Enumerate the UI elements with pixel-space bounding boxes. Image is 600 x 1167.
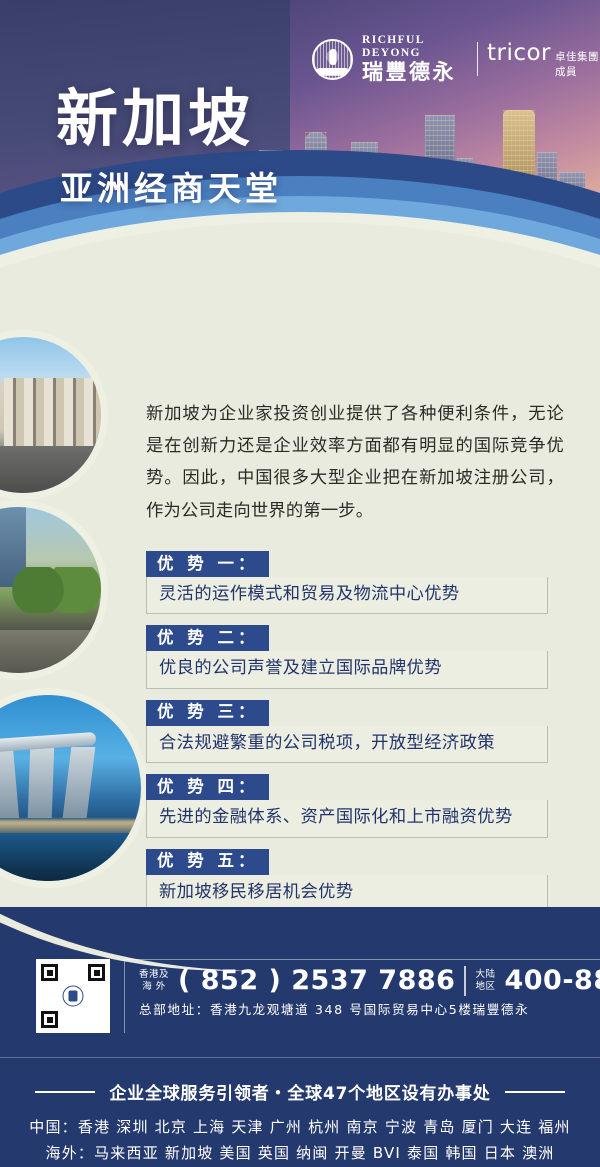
brand-chinese-name: 瑞豐德永: [362, 60, 456, 84]
brand-english-name: RICHFUL DEYONG: [362, 34, 468, 59]
advantage-badge: 优 势 一：: [146, 551, 269, 577]
poster-root: RICHFUL DEYONG 瑞豐德永 tricor 卓佳集團成員 新加坡 亚洲…: [0, 0, 600, 1167]
logo-divider: [477, 42, 478, 76]
brand-logo[interactable]: RICHFUL DEYONG 瑞豐德永 tricor 卓佳集團成員: [312, 34, 600, 84]
advantage-badge: 优 势 三：: [146, 700, 269, 726]
partner-name: tricor: [487, 40, 551, 66]
qr-center-logo-icon: [63, 986, 84, 1007]
photo-waterfront-park: [0, 500, 108, 680]
phone-divider: [464, 966, 466, 996]
intro-paragraph-block: 新加坡为企业家投资创业提供了各种便利条件，无论是在创新力还是企业效率方面都有明显…: [146, 398, 564, 527]
advantage-badge: 优 势 五：: [146, 849, 269, 875]
photo-marina-bay-sands: [0, 688, 148, 888]
cn-phone-label: 大陆 地区: [475, 969, 495, 991]
hero-headline: 新加坡 亚洲经商天堂: [56, 88, 282, 205]
partner-lockup: tricor 卓佳集團成員: [487, 40, 600, 79]
slogan-dash-right: [505, 1091, 565, 1093]
footer-slogan: 企业全球服务引领者・全球47个地区设有办事处: [109, 1079, 490, 1104]
shield-crest-icon: [312, 39, 353, 80]
advantage-text: 优良的公司声誉及建立国际品牌优势: [146, 651, 548, 689]
advantage-item: 优 势 二： 优良的公司声誉及建立国际品牌优势: [146, 625, 548, 688]
hk-phone-number[interactable]: ( 852 ) 2537 7886: [178, 965, 455, 996]
footer-panel: 香港及 海 外 ( 852 ) 2537 7886 大陆 地区 400-880 …: [0, 907, 600, 1167]
phone-row: 香港及 海 外 ( 852 ) 2537 7886 大陆 地区 400-880 …: [139, 965, 600, 996]
page-subtitle: 亚洲经商天堂: [60, 172, 282, 205]
page-title: 新加坡: [56, 88, 282, 150]
qr-code-icon[interactable]: [36, 959, 110, 1033]
advantage-text: 灵活的运作模式和贸易及物流中心优势: [146, 577, 548, 615]
advantage-list: 优 势 一： 灵活的运作模式和贸易及物流中心优势 优 势 二： 优良的公司声誉及…: [146, 551, 548, 923]
advantage-item: 优 势 一： 灵活的运作模式和贸易及物流中心优势: [146, 551, 548, 614]
advantage-item: 优 势 五： 新加坡移民移居机会优势: [146, 849, 548, 912]
intro-paragraph: 新加坡为企业家投资创业提供了各种便利条件，无论是在创新力还是企业效率方面都有明显…: [146, 398, 564, 527]
advantage-badge: 优 势 四：: [146, 774, 269, 800]
advantage-item: 优 势 四： 先进的金融体系、资产国际化和上市融资优势: [146, 774, 548, 837]
regions-china: 中国：香港 深圳 北京 上海 天津 广州 杭州 南京 宁波 青岛 厦门 大连 福…: [0, 1115, 600, 1141]
contact-block: 香港及 海 外 ( 852 ) 2537 7886 大陆 地区 400-880 …: [36, 959, 600, 1033]
footer-slogan-row: 企业全球服务引领者・全球47个地区设有办事处: [0, 1079, 600, 1104]
partner-chinese-tag: 卓佳集團成員: [555, 49, 600, 79]
hk-phone-label: 香港及 海 外: [139, 969, 169, 991]
brand-names: RICHFUL DEYONG 瑞豐德永: [362, 34, 468, 84]
footer-divider: [0, 1057, 600, 1058]
advantage-badge: 优 势 二：: [146, 625, 269, 651]
advantage-item: 优 势 三： 合法规避繁重的公司税项，开放型经济政策: [146, 700, 548, 763]
office-regions: 中国：香港 深圳 北京 上海 天津 广州 杭州 南京 宁波 青岛 厦门 大连 福…: [0, 1115, 600, 1167]
contact-details: 香港及 海 外 ( 852 ) 2537 7886 大陆 地区 400-880 …: [124, 959, 600, 1033]
hq-address: 总部地址：香港九龙观塘道 348 号国际贸易中心5楼瑞豐德永: [139, 999, 600, 1018]
slogan-dash-left: [35, 1091, 95, 1093]
advantage-text: 先进的金融体系、资产国际化和上市融资优势: [146, 800, 548, 838]
cn-phone-number[interactable]: 400-880 8098: [504, 965, 600, 996]
advantage-text: 合法规避繁重的公司税项，开放型经济政策: [146, 726, 548, 764]
photo-shophouse-street: [0, 330, 108, 500]
brand-lockup: RICHFUL DEYONG 瑞豐德永 tricor 卓佳集團成員: [362, 34, 600, 84]
regions-overseas: 海外：马来西亚 新加坡 美国 英国 纳闽 开曼 BVI 泰国 韩国 日本 澳洲: [0, 1141, 600, 1167]
